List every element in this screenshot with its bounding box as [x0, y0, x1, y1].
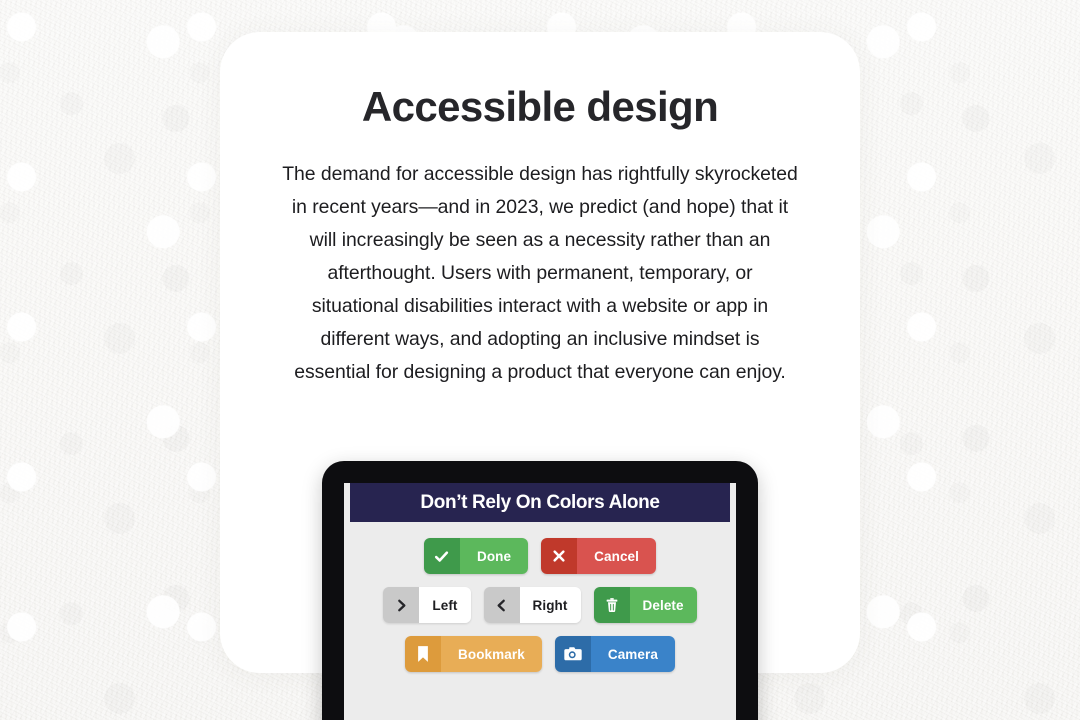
cancel-button-label: Cancel [577, 538, 656, 574]
checkmark-icon [424, 538, 460, 574]
done-button[interactable]: Done [424, 538, 528, 574]
bookmark-icon [405, 636, 441, 672]
delete-button-label: Delete [630, 587, 697, 623]
left-button[interactable]: Left [383, 587, 470, 623]
bookmark-button[interactable]: Bookmark [405, 636, 542, 672]
camera-button-label: Camera [591, 636, 675, 672]
delete-button[interactable]: Delete [594, 587, 697, 623]
camera-button[interactable]: Camera [555, 636, 675, 672]
left-button-label: Left [419, 587, 470, 623]
button-row: Done Cancel [352, 538, 728, 574]
screen-header-title: Don’t Rely On Colors Alone [420, 492, 659, 514]
screen-header-bar: Don’t Rely On Colors Alone [350, 483, 730, 522]
chevron-left-icon [484, 587, 520, 623]
button-demo-group: Done Cancel [344, 522, 736, 672]
button-row: Bookmark Camera [352, 636, 728, 672]
tablet-screen: Don’t Rely On Colors Alone Done [344, 483, 736, 720]
tablet-device-mockup: Don’t Rely On Colors Alone Done [322, 461, 758, 720]
right-button[interactable]: Right [484, 587, 581, 623]
page-title: Accessible design [220, 82, 860, 132]
chevron-right-icon [383, 587, 419, 623]
bookmark-button-label: Bookmark [441, 636, 542, 672]
right-button-label: Right [520, 587, 581, 623]
cancel-button[interactable]: Cancel [541, 538, 656, 574]
cross-icon [541, 538, 577, 574]
button-row: Left Right [352, 587, 728, 623]
trash-icon [594, 587, 630, 623]
camera-icon [555, 636, 591, 672]
body-paragraph: The demand for accessible design has rig… [282, 158, 798, 389]
done-button-label: Done [460, 538, 528, 574]
